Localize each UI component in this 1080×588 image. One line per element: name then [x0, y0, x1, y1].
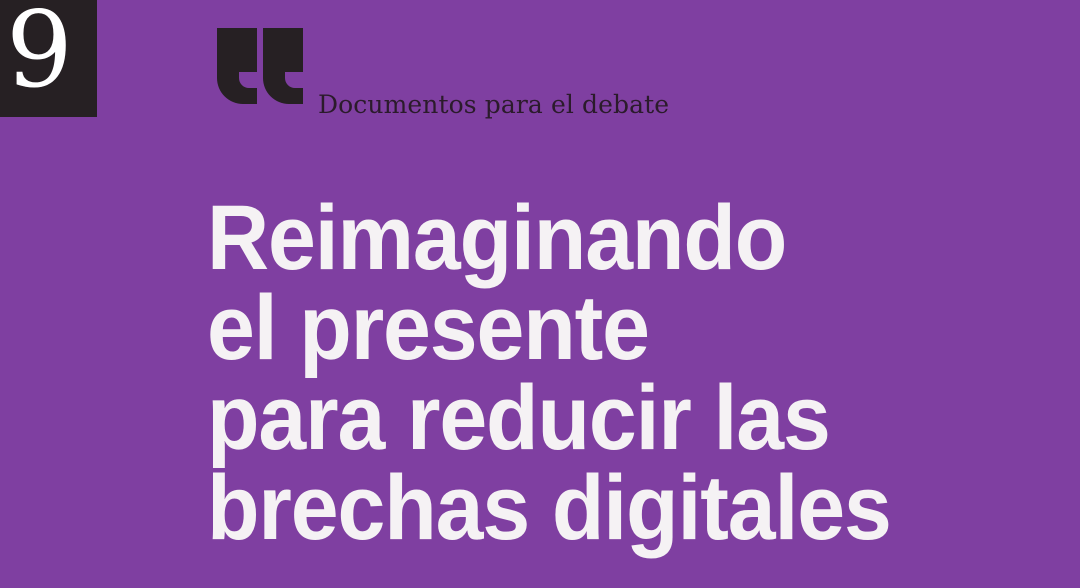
series-label: Documentos para el debate	[318, 90, 669, 120]
quote-mark-left-icon	[217, 28, 257, 104]
issue-number-badge: 9	[0, 0, 97, 117]
issue-number-value: 9	[6, 0, 73, 109]
title-line: brechas digitales	[207, 463, 1011, 553]
publication-cover: 9 Documentos para el debate Reimaginando…	[0, 0, 1080, 588]
quote-mark-right-icon	[263, 28, 303, 104]
title-line: para reducir las	[207, 373, 1011, 463]
title-line: el presente	[207, 283, 1011, 373]
page-title: Reimaginando el presente para reducir la…	[207, 193, 1067, 553]
quotation-marks-logo	[217, 28, 303, 104]
title-line: Reimaginando	[207, 193, 1011, 283]
